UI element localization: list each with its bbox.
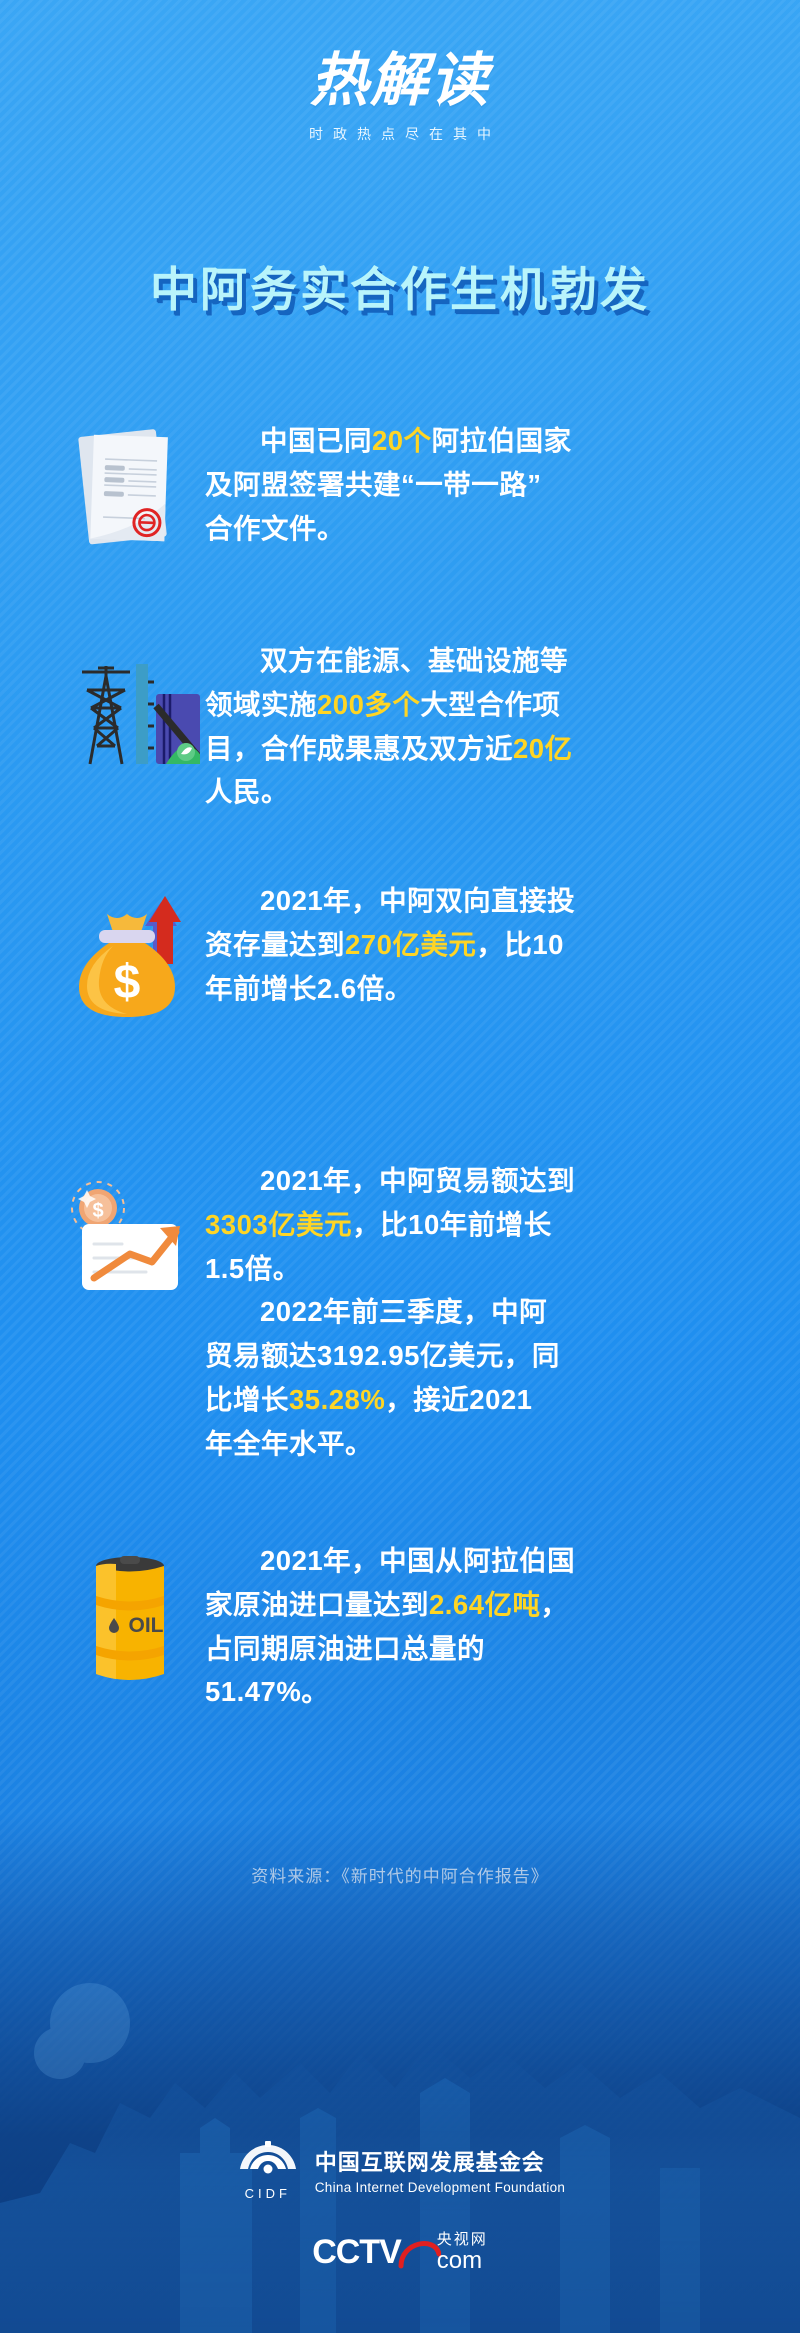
text-segment: ，接近2021 (385, 1384, 532, 1415)
text-segment: ， (541, 1589, 569, 1620)
highlight-figure: 20个 (372, 425, 432, 456)
text-line: 2021年，中阿双向直接投 (205, 880, 745, 922)
text-segment: 51.47%。 (205, 1676, 329, 1707)
highlight-figure: 270亿美元 (345, 929, 476, 960)
chimney-icon (136, 664, 148, 764)
text-segment: 1.5倍。 (205, 1253, 301, 1284)
text-line: 2021年，中阿贸易额达到 (205, 1160, 745, 1202)
money-bag-arrow-icon: $ (65, 886, 195, 1021)
document-seal-icon-wrap (55, 420, 205, 556)
text-segment: 大型合作项 (420, 689, 560, 720)
text-segment: 年前增长2.6倍。 (205, 973, 413, 1004)
text-line: 2022年前三季度，中阿 (205, 1291, 745, 1333)
brand-header: 热解读 时政热点尽在其中 (0, 52, 800, 144)
text-line: 资存量达到270亿美元，比10 (205, 924, 745, 966)
cidf-name-cn: 中国互联网发展基金会 (315, 2145, 566, 2177)
oil-barrel-icon-wrap: OIL (55, 1540, 205, 1696)
text-line: 年前增长2.6倍。 (205, 968, 745, 1010)
text-segment: 合作文件。 (205, 513, 345, 544)
highlight-figure: 2.64亿吨 (429, 1589, 541, 1620)
brand-slogan: 时政热点尽在其中 (0, 124, 800, 144)
text-segment: 2021年，中国从阿拉伯国 (260, 1545, 575, 1576)
footer-logos: CIDF 中国互联网发展基金会 China Internet Developme… (0, 2139, 800, 2273)
pylon-icon (82, 666, 130, 764)
text-segment: 家原油进口量达到 (205, 1589, 429, 1620)
svg-text:OIL: OIL (129, 1614, 164, 1637)
text-segment: 中国已同 (260, 425, 372, 456)
content-block: OIL 2021年，中国从阿拉伯国家原油进口量达到2.64亿吨，占同期原油进口总… (55, 1540, 745, 1713)
document-seal-icon (70, 426, 190, 556)
svg-text:$: $ (92, 1200, 103, 1222)
text-segment: 及阿盟签署共建“一带一路” (205, 469, 542, 500)
content-block: $ 2021年，中阿双向直接投资存量达到270亿美元，比10年前增长2.6倍。 (55, 880, 745, 1021)
cidf-name-en: China Internet Development Foundation (315, 2180, 566, 2195)
text-segment: 资存量达到 (205, 929, 345, 960)
power-plant-icon-wrap (55, 640, 205, 776)
text-segment: 2022年前三季度，中阿 (260, 1296, 547, 1327)
text-line: 2021年，中国从阿拉伯国 (205, 1540, 745, 1582)
text-line: 人民。 (205, 771, 745, 813)
highlight-figure: 200多个 (317, 689, 420, 720)
text-line: 家原油进口量达到2.64亿吨， (205, 1584, 745, 1626)
block-text: 2021年，中阿双向直接投资存量达到270亿美元，比10年前增长2.6倍。 (205, 880, 745, 1009)
text-segment: ，比10 (476, 929, 564, 960)
text-segment: 阿拉伯国家 (432, 425, 572, 456)
bag-top-icon (107, 914, 147, 932)
cidf-abbreviation: CIDF (235, 2186, 301, 2201)
text-line: 中国已同20个阿拉伯国家 (205, 420, 745, 462)
text-segment: 双方在能源、基础设施等 (260, 645, 568, 676)
text-line: 51.47%。 (205, 1671, 745, 1713)
text-line: 及阿盟签署共建“一带一路” (205, 464, 745, 506)
brand-logo-text: 热解读 (0, 52, 800, 110)
text-line: 双方在能源、基础设施等 (205, 640, 745, 682)
highlight-figure: 3303亿美元 (205, 1209, 352, 1240)
text-segment: 贸易额达3192.95亿美元，同 (205, 1340, 560, 1371)
highlight-figure: 35.28% (289, 1384, 385, 1415)
block-text: 双方在能源、基础设施等领域实施200多个大型合作项目，合作成果惠及双方近20亿人… (205, 640, 745, 813)
text-segment: 领域实施 (205, 689, 317, 720)
content-block: $ 2021年，中阿贸易额达到3303亿美元，比10年前增长1.5倍。2022年… (55, 1160, 745, 1465)
trade-growth-chart-icon: $ (60, 1166, 200, 1306)
svg-text:$: $ (114, 956, 141, 1009)
text-segment: 2021年，中阿双向直接投 (260, 885, 575, 916)
highlight-figure: 20亿 (513, 733, 573, 764)
text-line: 1.5倍。 (205, 1248, 745, 1290)
infographic-page: 热解读 时政热点尽在其中 中阿务实合作生机勃发 (0, 0, 800, 2333)
block-text: 2021年，中阿贸易额达到3303亿美元，比10年前增长1.5倍。2022年前三… (205, 1160, 745, 1465)
block-text: 2021年，中国从阿拉伯国家原油进口量达到2.64亿吨，占同期原油进口总量的51… (205, 1540, 745, 1713)
trade-growth-chart-icon-wrap: $ (55, 1160, 205, 1306)
cctv-domain: com (437, 2247, 482, 2274)
oil-barrel-icon: OIL (70, 1546, 190, 1696)
text-line: 贸易额达3192.95亿美元，同 (205, 1335, 745, 1377)
text-segment: 目，合作成果惠及双方近 (205, 733, 513, 764)
block-text: 中国已同20个阿拉伯国家及阿盟签署共建“一带一路”合作文件。 (205, 420, 745, 549)
text-segment: 比增长 (205, 1384, 289, 1415)
text-segment: 年全年水平。 (205, 1428, 373, 1459)
text-line: 占同期原油进口总量的 (205, 1628, 745, 1670)
content-block: 双方在能源、基础设施等领域实施200多个大型合作项目，合作成果惠及双方近20亿人… (55, 640, 745, 813)
cctv-logo: CCTV 央视网 com (0, 2231, 800, 2273)
page-title: 中阿务实合作生机勃发 (0, 251, 800, 320)
text-segment: ，比10年前增长 (352, 1209, 552, 1240)
cctv-swoosh-icon (395, 2232, 441, 2272)
text-segment: 2021年，中阿贸易额达到 (260, 1165, 575, 1196)
cctv-wordmark: CCTV (312, 2233, 401, 2272)
text-segment: 人民。 (205, 776, 289, 807)
text-segment: 占同期原油进口总量的 (205, 1633, 485, 1664)
text-line: 比增长35.28%，接近2021 (205, 1379, 745, 1421)
text-line: 年全年水平。 (205, 1423, 745, 1465)
cidf-logo: CIDF 中国互联网发展基金会 China Internet Developme… (0, 2139, 800, 2201)
cctv-name-cn: 央视网 (437, 2231, 488, 2248)
cidf-emblem-icon (237, 2139, 299, 2179)
money-bag-arrow-icon-wrap: $ (55, 880, 205, 1021)
power-plant-icon (60, 646, 200, 776)
text-line: 目，合作成果惠及双方近20亿 (205, 728, 745, 770)
text-line: 3303亿美元，比10年前增长 (205, 1204, 745, 1246)
text-line: 合作文件。 (205, 508, 745, 550)
footer-background: CIDF 中国互联网发展基金会 China Internet Developme… (0, 1813, 800, 2333)
text-line: 领域实施200多个大型合作项 (205, 684, 745, 726)
content-block: 中国已同20个阿拉伯国家及阿盟签署共建“一带一路”合作文件。 (55, 420, 745, 556)
